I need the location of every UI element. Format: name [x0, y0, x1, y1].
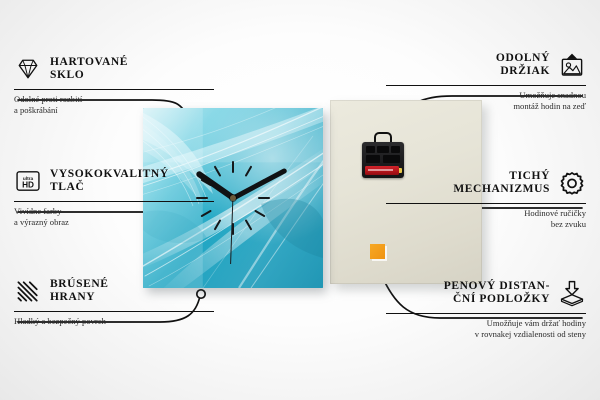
feature-durable-hanger: ODOLNÝ DRŽIAK Umožňuje snadnou montáž ho… [386, 48, 586, 112]
feature-foam-spacers: PENOVÝ DISTAN- ČNÍ PODLOŽKY Umožňuje vám… [386, 276, 586, 340]
feature-description: Odolné proti rozbití a poškrábání [14, 94, 214, 116]
feature-description: Umožňuje snadnou montáž hodin na zeď [386, 90, 586, 112]
clock-center-cap [230, 195, 236, 201]
feature-divider [386, 313, 586, 314]
infographic-canvas: HARTOVANÉ SKLO Odolné proti rozbití a po… [0, 0, 600, 400]
feature-title: TICHÝ MECHANIZMUS [453, 170, 550, 197]
feature-header: HARTOVANÉ SKLO [14, 52, 214, 86]
foam-spacer-icon [558, 279, 586, 307]
svg-text:HD: HD [22, 180, 34, 189]
feature-ground-edges: BRÚSENÉ HRANY Hladký a bezpečný povrch [14, 274, 214, 327]
feature-header: PENOVÝ DISTAN- ČNÍ PODLOŽKY [386, 276, 586, 310]
feature-header: ODOLNÝ DRŽIAK [386, 48, 586, 82]
feature-description: Umožňuje vám držať hodiny v rovnakej vzd… [386, 318, 586, 340]
ground-edges-icon [14, 277, 42, 305]
feature-description: Hodinové ručičky bez zvuku [386, 208, 586, 230]
feature-title: BRÚSENÉ HRANY [50, 278, 109, 305]
feature-title: ODOLNÝ DRŽIAK [496, 52, 550, 79]
feature-description: Hladký a bezpečný povrch [14, 316, 214, 327]
feature-title: PENOVÝ DISTAN- ČNÍ PODLOŽKY [444, 280, 550, 307]
feature-divider [386, 85, 586, 86]
foam-spacer-pad [370, 244, 385, 259]
feature-divider [386, 203, 586, 204]
feature-high-quality-print: ultra HD VYSOKOKVALITNÝ TLAČ Vivídne far… [14, 164, 214, 228]
feature-header: BRÚSENÉ HRANY [14, 274, 214, 308]
feature-title: VYSOKOKVALITNÝ TLAČ [50, 168, 169, 195]
ultra-hd-icon: ultra HD [14, 167, 42, 195]
feature-description: Vivídne farby a výrazný obraz [14, 206, 214, 228]
feature-divider [14, 311, 214, 312]
feature-header: ultra HD VYSOKOKVALITNÝ TLAČ [14, 164, 214, 198]
feature-title: HARTOVANÉ SKLO [50, 56, 128, 83]
feature-tempered-glass: HARTOVANÉ SKLO Odolné proti rozbití a po… [14, 52, 214, 116]
diamond-icon [14, 55, 42, 83]
feature-divider [14, 89, 214, 90]
picture-hanger-icon [558, 51, 586, 79]
feature-silent-mechanism: TICHÝ MECHANIZMUS Hodinové ručičky bez z… [386, 166, 586, 230]
gear-icon [558, 169, 586, 197]
feature-header: TICHÝ MECHANIZMUS [386, 166, 586, 200]
feature-divider [14, 201, 214, 202]
